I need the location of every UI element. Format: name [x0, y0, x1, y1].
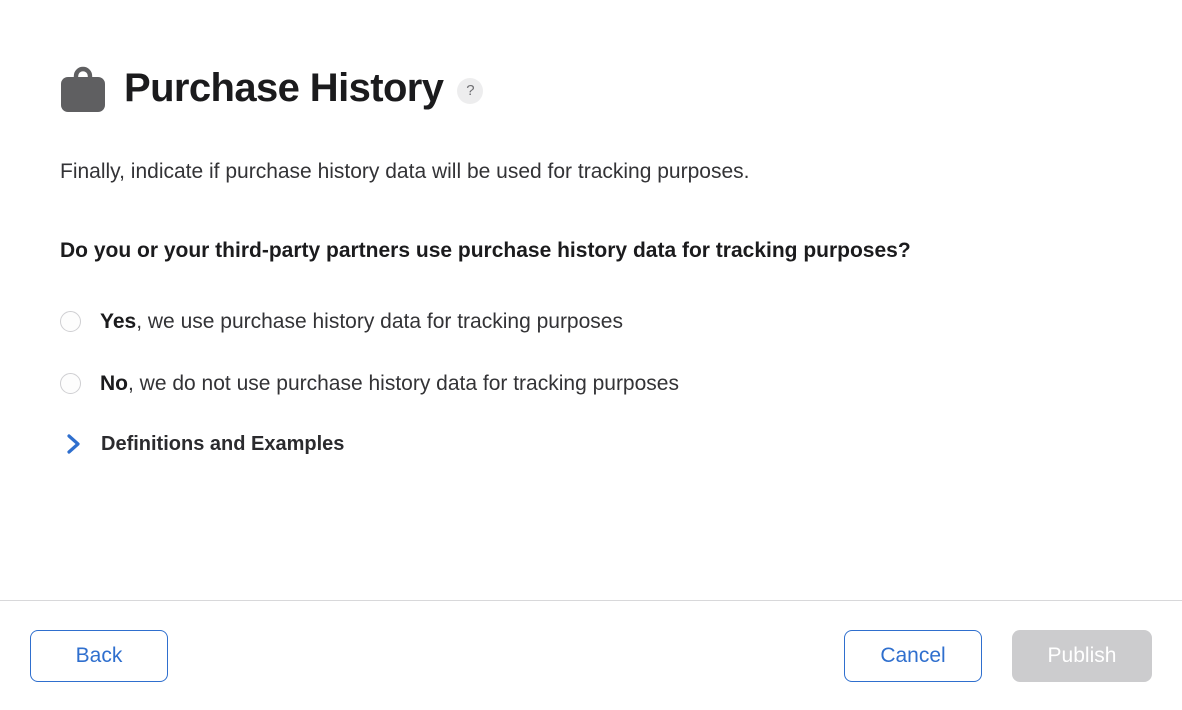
question-text: Do you or your third-party partners use … [60, 237, 1122, 264]
radio-button-no[interactable] [60, 373, 81, 394]
radio-label-no-strong: No [100, 372, 128, 395]
radio-label-no-rest: , we do not use purchase history data fo… [128, 372, 679, 395]
radio-label-yes-rest: , we use purchase history data for track… [136, 310, 623, 333]
chevron-right-icon[interactable] [64, 433, 84, 455]
page-header: Purchase History ? [60, 60, 1122, 116]
back-button[interactable]: Back [30, 630, 168, 682]
radio-label-yes: Yes, we use purchase history data for tr… [100, 309, 623, 334]
radio-option-yes[interactable]: Yes, we use purchase history data for tr… [60, 305, 1122, 339]
purchase-history-panel: Purchase History ? Finally, indicate if … [0, 0, 1182, 710]
page-title: Purchase History [124, 68, 443, 108]
definitions-and-examples-toggle[interactable]: Definitions and Examples [60, 429, 1122, 459]
help-icon[interactable]: ? [457, 78, 483, 104]
intro-text: Finally, indicate if purchase history da… [60, 158, 1122, 185]
radio-label-yes-strong: Yes [100, 310, 136, 333]
panel-content: Purchase History ? Finally, indicate if … [0, 0, 1182, 600]
footer-actions: Cancel Publish [844, 630, 1152, 682]
radio-label-no: No, we do not use purchase history data … [100, 371, 679, 396]
radio-button-yes[interactable] [60, 311, 81, 332]
tracking-radio-group: Yes, we use purchase history data for tr… [60, 305, 1122, 401]
definitions-and-examples-label: Definitions and Examples [101, 432, 344, 456]
radio-option-no[interactable]: No, we do not use purchase history data … [60, 367, 1122, 401]
publish-button[interactable]: Publish [1012, 630, 1152, 682]
shopping-bag-icon [60, 63, 106, 113]
footer-bar: Back Cancel Publish [0, 601, 1182, 710]
cancel-button[interactable]: Cancel [844, 630, 982, 682]
